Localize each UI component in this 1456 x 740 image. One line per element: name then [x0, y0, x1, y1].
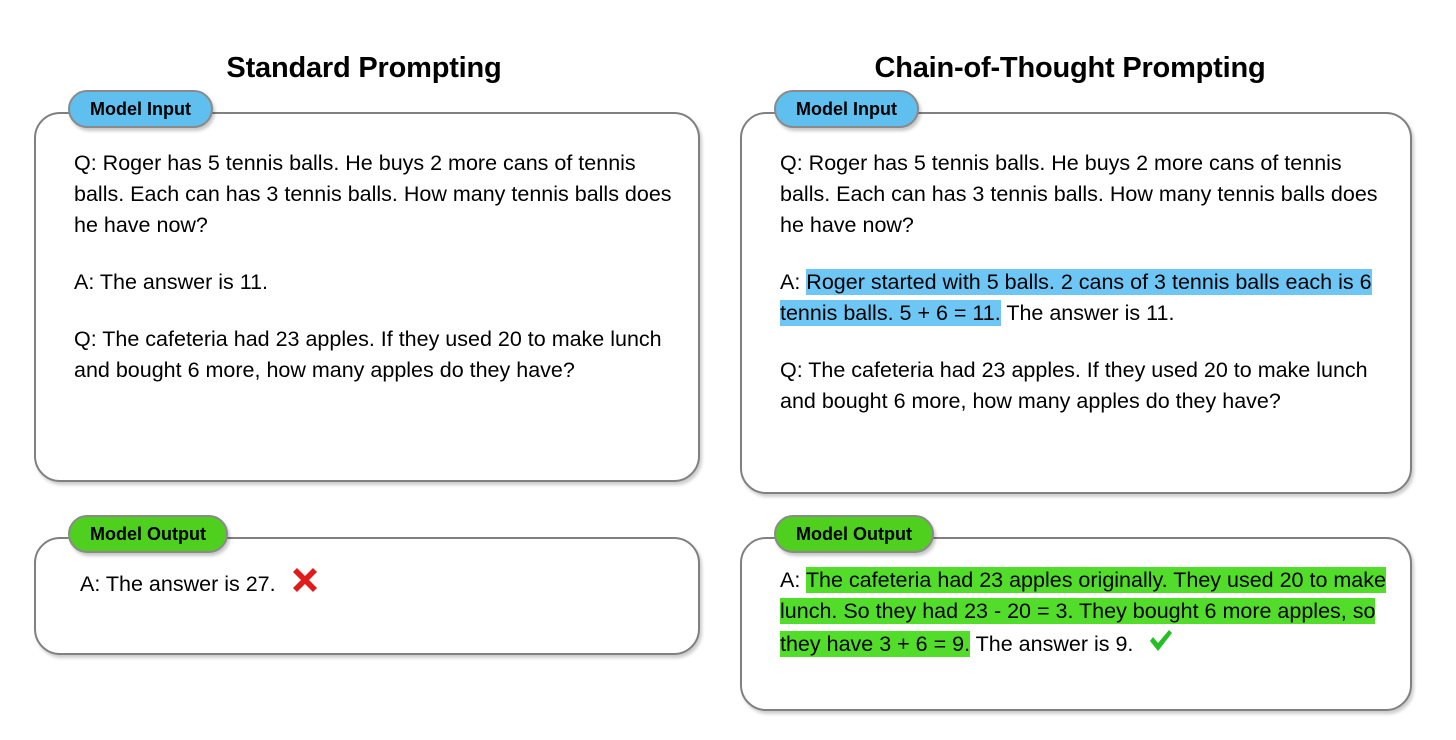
standard-input-body: Q: Roger has 5 tennis balls. He buys 2 m…: [74, 148, 676, 386]
column-chain-of-thought-prompting: Chain-of-Thought Prompting Model Input Q…: [720, 0, 1420, 740]
standard-input-paragraph: A: The answer is 11.: [74, 267, 676, 298]
standard-output-answer: A: The answer is 27.: [80, 565, 676, 600]
badge-model-output-cot: Model Output: [774, 515, 934, 553]
cot-input-body: Q: Roger has 5 tennis balls. He buys 2 m…: [780, 148, 1388, 417]
check-icon: [1147, 627, 1175, 655]
cross-icon: [290, 565, 320, 595]
column-title-chain-of-thought: Chain-of-Thought Prompting: [720, 50, 1420, 86]
standard-input-paragraph: Q: Roger has 5 tennis balls. He buys 2 m…: [74, 148, 676, 241]
cot-model-input-panel: Model Input Q: Roger has 5 tennis balls.…: [740, 112, 1412, 494]
badge-model-input-cot: Model Input: [774, 90, 919, 128]
standard-model-input-panel: Model Input Q: Roger has 5 tennis balls.…: [34, 112, 700, 482]
standard-input-paragraph: Q: The cafeteria had 23 apples. If they …: [74, 324, 676, 386]
cot-output-body: A: The cafeteria had 23 apples originall…: [780, 565, 1388, 660]
standard-output-body: A: The answer is 27.: [80, 565, 676, 600]
badge-model-input-standard: Model Input: [68, 90, 213, 128]
cot-input-reasoning-suffix: The answer is 11.: [1001, 301, 1175, 325]
standard-model-output-panel: Model Output A: The answer is 27.: [34, 537, 700, 655]
column-standard-prompting: Standard Prompting Model Input Q: Roger …: [14, 0, 714, 740]
cot-output-answer: A: The cafeteria had 23 apples originall…: [780, 565, 1388, 660]
cot-input-paragraph: Q: The cafeteria had 23 apples. If they …: [780, 355, 1388, 417]
cot-output-prefix: A:: [780, 568, 806, 592]
standard-output-answer-text: A: The answer is 27.: [80, 572, 276, 596]
badge-model-output-standard: Model Output: [68, 515, 228, 553]
cot-model-output-panel: Model Output A: The cafeteria had 23 app…: [740, 537, 1412, 711]
cot-input-reasoning: A: Roger started with 5 balls. 2 cans of…: [780, 267, 1388, 329]
cot-input-paragraph: Q: Roger has 5 tennis balls. He buys 2 m…: [780, 148, 1388, 241]
cot-output-suffix: The answer is 9.: [970, 632, 1133, 656]
column-title-standard: Standard Prompting: [14, 50, 714, 86]
cot-input-reasoning-prefix: A:: [780, 270, 806, 294]
